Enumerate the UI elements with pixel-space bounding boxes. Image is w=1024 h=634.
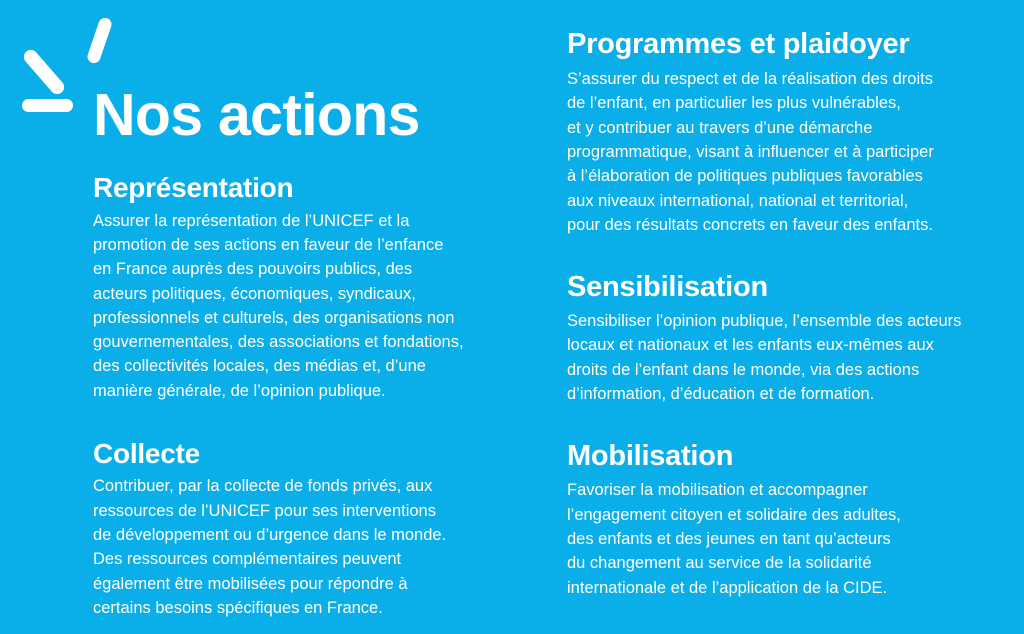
sparkle-dash-diagonal-icon xyxy=(21,47,67,97)
page-title: Nos actions xyxy=(93,85,543,145)
section-body-sensibilisation: Sensibiliser l’opinion publique, l’ensem… xyxy=(567,309,1019,406)
section-heading-sensibilisation: Sensibilisation xyxy=(567,271,1019,304)
sparkle-dash-horizontal-icon xyxy=(22,99,73,112)
section-heading-mobilisation: Mobilisation xyxy=(567,440,1019,473)
left-column: Nos actions Représentation Assurer la re… xyxy=(93,85,543,620)
section-programmes-et-plaidoyer: Programmes et plaidoyer S’assurer du res… xyxy=(567,28,1019,237)
section-body-collecte: Contribuer, par la collecte de fonds pri… xyxy=(93,474,543,620)
section-body-programmes-et-plaidoyer: S’assurer du respect et de la réalisatio… xyxy=(567,67,1019,237)
section-body-mobilisation: Favoriser la mobilisation et accompagner… xyxy=(567,478,1019,599)
section-heading-programmes-et-plaidoyer: Programmes et plaidoyer xyxy=(567,28,1019,61)
sparkle-dash-vertical-icon xyxy=(86,16,114,65)
section-body-representation: Assurer la représentation de l’UNICEF et… xyxy=(93,209,543,403)
section-representation: Représentation Assurer la représentation… xyxy=(93,172,543,403)
poster: Nos actions Représentation Assurer la re… xyxy=(0,0,1024,633)
section-mobilisation: Mobilisation Favoriser la mobilisation e… xyxy=(567,440,1019,600)
section-heading-representation: Représentation xyxy=(93,172,543,204)
section-heading-collecte: Collecte xyxy=(93,438,543,470)
section-sensibilisation: Sensibilisation Sensibiliser l’opinion p… xyxy=(567,271,1019,406)
section-collecte: Collecte Contribuer, par la collecte de … xyxy=(93,438,543,620)
right-column: Programmes et plaidoyer S’assurer du res… xyxy=(567,28,1019,634)
